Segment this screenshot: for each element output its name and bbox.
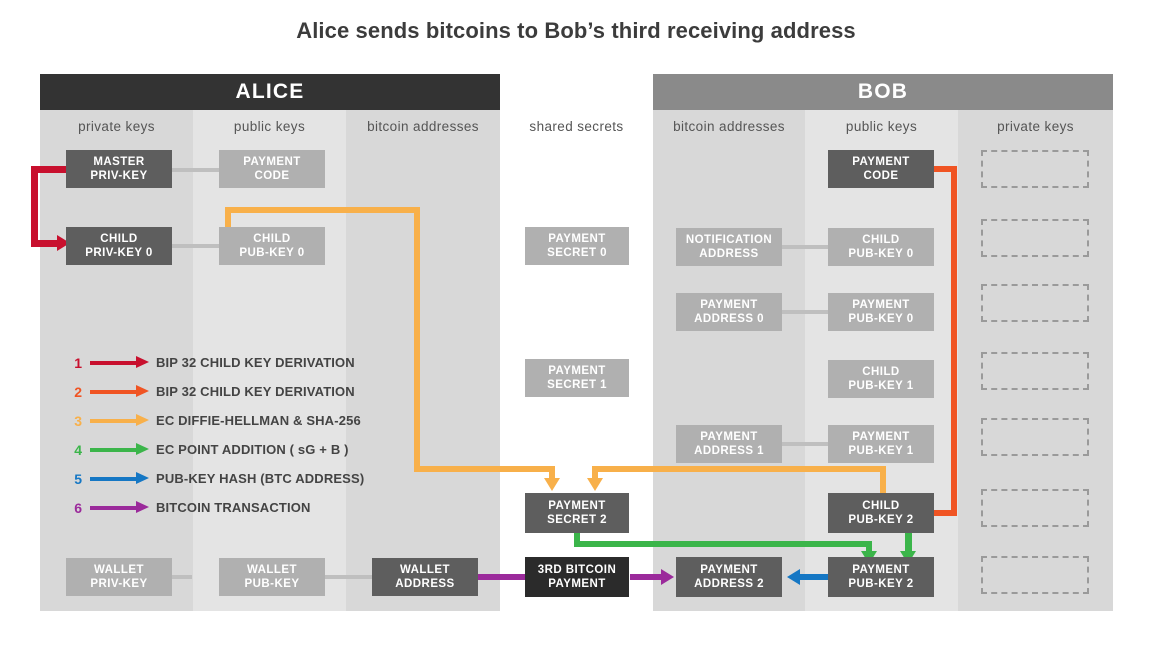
flow2-bottom-segment [930,510,957,516]
column-label-alice-bitcoin-addresses: bitcoin addresses [346,119,500,134]
node-alice-child-pub-key-0[interactable]: CHILD PUB-KEY 0 [219,227,325,265]
flow6-right-horizontal [630,574,665,580]
node-line-2: PAYMENT [548,577,605,591]
legend-item-3: 3 EC DIFFIE-HELLMAN & SHA-256 [68,412,368,430]
legend-number: 2 [68,383,82,401]
page-title: Alice sends bitcoins to Bob’s third rece… [0,18,1152,44]
node-line-2: PUB-KEY 0 [239,246,304,260]
node-bob-payment-pub-key-2[interactable]: PAYMENT PUB-KEY 2 [828,557,934,597]
node-line-2: PUB-KEY 2 [848,513,913,527]
legend-arrowhead-icon [136,443,149,455]
legend-label: BITCOIN TRANSACTION [156,499,311,517]
node-line-1: PAYMENT [548,232,605,246]
legend-number: 6 [68,499,82,517]
alice-bitcoin-addresses-column [346,108,500,611]
node-line-1: WALLET [247,563,297,577]
legend-line-icon [90,419,136,423]
node-bob-child-pub-key-2[interactable]: CHILD PUB-KEY 2 [828,493,934,533]
node-line-2: PRIV-KEY [90,577,147,591]
node-line-1: PAYMENT [548,364,605,378]
node-line-2: PUB-KEY 2 [848,577,913,591]
legend-arrowhead-icon [136,472,149,484]
column-label-alice-private-keys: private keys [40,119,193,134]
node-line-1: CHILD [862,365,899,379]
node-line-2: ADDRESS [395,577,454,591]
node-bob-private-key-placeholder-6 [981,489,1089,527]
node-line-2: SECRET 2 [547,513,607,527]
legend-line-icon [90,361,136,365]
node-line-2: SECRET 1 [547,378,607,392]
node-payment-secret-1[interactable]: PAYMENT SECRET 1 [525,359,629,397]
node-line-1: WALLET [400,563,450,577]
column-label-alice-public-keys: public keys [193,119,346,134]
node-bob-child-pub-key-1[interactable]: CHILD PUB-KEY 1 [828,360,934,398]
column-label-bob-private-keys: private keys [958,119,1113,134]
node-line-2: ADDRESS 1 [694,444,764,458]
node-bob-payment-address-0[interactable]: PAYMENT ADDRESS 0 [676,293,782,331]
node-line-1: PAYMENT [852,298,909,312]
node-line-1: PAYMENT [700,430,757,444]
node-third-bitcoin-payment[interactable]: 3RD BITCOIN PAYMENT [525,557,629,597]
node-line-1: PAYMENT [852,155,909,169]
node-bob-private-key-placeholder-5 [981,418,1089,456]
legend-arrowhead-icon [136,414,149,426]
node-line-2: PUB-KEY 0 [848,312,913,326]
flow3-right-horizontal [592,466,886,472]
node-line-1: NOTIFICATION [686,233,772,247]
node-line-1: PAYMENT [700,298,757,312]
legend-label: EC POINT ADDITION ( sG + B ) [156,441,349,459]
flow3-right-arrowhead [587,478,603,491]
node-line-1: CHILD [253,232,290,246]
legend-number: 4 [68,441,82,459]
node-line-1: MASTER [93,155,144,169]
flow3-left-arrowhead [544,478,560,491]
node-alice-wallet-priv-key[interactable]: WALLET PRIV-KEY [66,558,172,596]
legend-item-6: 6 BITCOIN TRANSACTION [68,499,368,517]
node-line-2: CODE [863,169,898,183]
node-alice-master-priv-key[interactable]: MASTER PRIV-KEY [66,150,172,188]
legend-item-1: 1 BIP 32 CHILD KEY DERIVATION [68,354,368,372]
node-line-2: PRIV-KEY [90,169,147,183]
node-bob-private-key-placeholder-4 [981,352,1089,390]
legend-line-icon [90,506,136,510]
node-bob-notification-address[interactable]: NOTIFICATION ADDRESS [676,228,782,266]
node-line-1: PAYMENT [700,563,757,577]
node-bob-private-key-placeholder-1 [981,150,1089,188]
column-label-bob-public-keys: public keys [805,119,958,134]
legend-item-4: 4 EC POINT ADDITION ( sG + B ) [68,441,368,459]
flow5-horizontal [800,574,831,580]
node-line-1: CHILD [100,232,137,246]
flow4-horizontal [574,541,872,547]
legend-label: BIP 32 CHILD KEY DERIVATION [156,354,355,372]
node-bob-child-pub-key-0[interactable]: CHILD PUB-KEY 0 [828,228,934,266]
node-bob-payment-address-2[interactable]: PAYMENT ADDRESS 2 [676,557,782,597]
node-line-2: PRIV-KEY 0 [85,246,153,260]
node-line-1: WALLET [94,563,144,577]
node-line-2: SECRET 0 [547,246,607,260]
node-bob-payment-pub-key-1[interactable]: PAYMENT PUB-KEY 1 [828,425,934,463]
node-alice-payment-code[interactable]: PAYMENT CODE [219,150,325,188]
flow3-left-downleg [414,207,420,472]
legend-label: PUB-KEY HASH (BTC ADDRESS) [156,470,364,488]
node-payment-secret-2[interactable]: PAYMENT SECRET 2 [525,493,629,533]
column-label-shared-secrets: shared secrets [500,119,653,134]
flow6-arrowhead [661,569,674,585]
flow3-left-horizontal-in [414,466,555,472]
node-line-1: 3RD BITCOIN [538,563,616,577]
diagram-canvas: Alice sends bitcoins to Bob’s third rece… [0,0,1152,649]
node-line-2: PUB-KEY 1 [848,379,913,393]
legend-arrowhead-icon [136,356,149,368]
node-payment-secret-0[interactable]: PAYMENT SECRET 0 [525,227,629,265]
node-line-2: PUB-KEY 1 [848,444,913,458]
legend-item-5: 5 PUB-KEY HASH (BTC ADDRESS) [68,470,368,488]
flow2-vertical-segment [951,166,957,516]
node-alice-wallet-pub-key[interactable]: WALLET PUB-KEY [219,558,325,596]
node-bob-payment-pub-key-0[interactable]: PAYMENT PUB-KEY 0 [828,293,934,331]
legend-arrowhead-icon [136,501,149,513]
node-line-2: PUB-KEY [245,577,300,591]
node-line-1: PAYMENT [852,430,909,444]
legend-item-2: 2 BIP 32 CHILD KEY DERIVATION [68,383,368,401]
legend-arrowhead-icon [136,385,149,397]
node-bob-payment-code[interactable]: PAYMENT CODE [828,150,934,188]
flow5-arrowhead [787,569,800,585]
node-line-2: ADDRESS 0 [694,312,764,326]
node-bob-payment-address-1[interactable]: PAYMENT ADDRESS 1 [676,425,782,463]
legend-line-icon [90,390,136,394]
node-line-2: CODE [254,169,289,183]
node-line-1: PAYMENT [243,155,300,169]
node-bob-private-key-placeholder-3 [981,284,1089,322]
node-line-1: CHILD [862,499,899,513]
bob-bitcoin-addresses-column [653,108,805,611]
node-line-1: PAYMENT [548,499,605,513]
node-line-2: PUB-KEY 0 [848,247,913,261]
flow1-bottom-segment [31,240,60,247]
party-header-bob: BOB [653,74,1113,110]
legend-number: 1 [68,354,82,372]
flow1-vertical-segment [31,166,38,247]
legend-line-icon [90,448,136,452]
legend-number: 3 [68,412,82,430]
node-alice-child-priv-key-0[interactable]: CHILD PRIV-KEY 0 [66,227,172,265]
column-label-bob-bitcoin-addresses: bitcoin addresses [653,119,805,134]
party-header-alice: ALICE [40,74,500,110]
node-line-1: PAYMENT [852,563,909,577]
node-line-2: ADDRESS [699,247,758,261]
node-bob-private-key-placeholder-7 [981,556,1089,594]
legend-label: EC DIFFIE-HELLMAN & SHA-256 [156,412,361,430]
legend-number: 5 [68,470,82,488]
flow3-top-horizontal [225,207,420,213]
flow6-left-horizontal [478,574,525,580]
legend-line-icon [90,477,136,481]
node-alice-wallet-address[interactable]: WALLET ADDRESS [372,558,478,596]
node-line-1: CHILD [862,233,899,247]
legend-label: BIP 32 CHILD KEY DERIVATION [156,383,355,401]
node-line-2: ADDRESS 2 [694,577,764,591]
node-bob-private-key-placeholder-2 [981,219,1089,257]
